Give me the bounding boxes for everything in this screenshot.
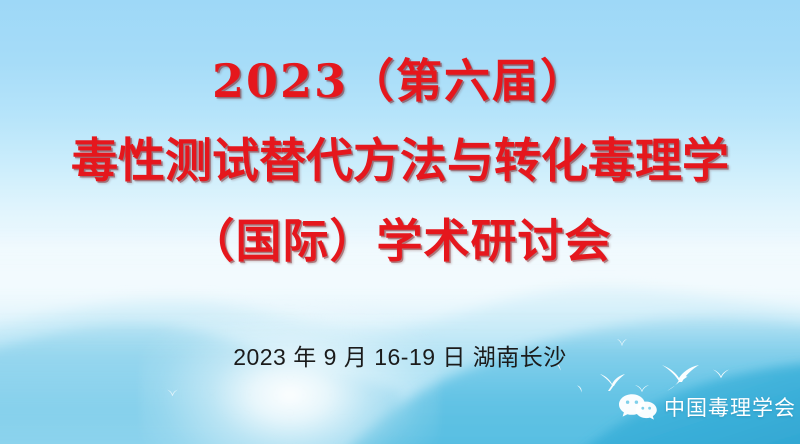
bird-tiny-icon (166, 388, 179, 397)
title-line-2: 毒性测试替代方法与转化毒理学 (0, 138, 800, 185)
bird-crane-icon (596, 372, 630, 394)
wechat-account-name: 中国毒理学会 (664, 392, 796, 422)
bird-small-icon (576, 384, 588, 395)
title-line-1: 2023（第六届） (0, 58, 800, 104)
date-and-venue: 2023 年 9 月 16-19 日 湖南长沙 (0, 338, 800, 372)
wechat-badge[interactable]: 中国毒理学会 (618, 392, 796, 422)
title-line-3: （国际）学术研讨会 (0, 218, 800, 264)
wechat-icon (618, 392, 658, 422)
sun-glow-icon (140, 300, 440, 444)
conference-poster: 2023（第六届） 毒性测试替代方法与转化毒理学 （国际）学术研讨会 2023 … (0, 0, 800, 444)
